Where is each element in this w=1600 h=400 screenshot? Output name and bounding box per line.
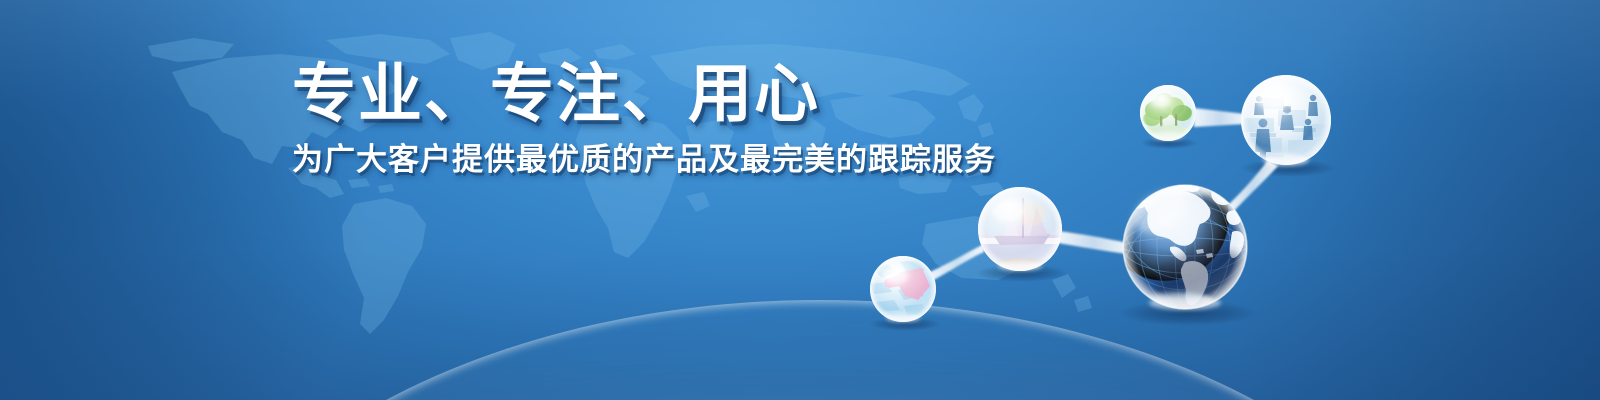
port-ship-sphere	[978, 187, 1062, 278]
banner-subline: 为广大客户提供最优质的产品及最完美的跟踪服务	[292, 140, 996, 180]
beam-port-globe	[1058, 231, 1128, 254]
beam-map-port	[930, 244, 984, 281]
banner-text-block: 专业、专注、用心 为广大客户提供最优质的产品及最完美的跟踪服务	[292, 58, 996, 180]
banner-headline: 专业、专注、用心	[292, 58, 996, 130]
promo-banner: 专业、专注、用心 为广大客户提供最优质的产品及最完美的跟踪服务	[0, 0, 1600, 400]
region-map-sphere	[870, 256, 936, 322]
beam-nature-business	[1194, 108, 1245, 127]
business-people-sphere	[1241, 75, 1332, 166]
nature-trees-sphere	[1140, 85, 1196, 141]
